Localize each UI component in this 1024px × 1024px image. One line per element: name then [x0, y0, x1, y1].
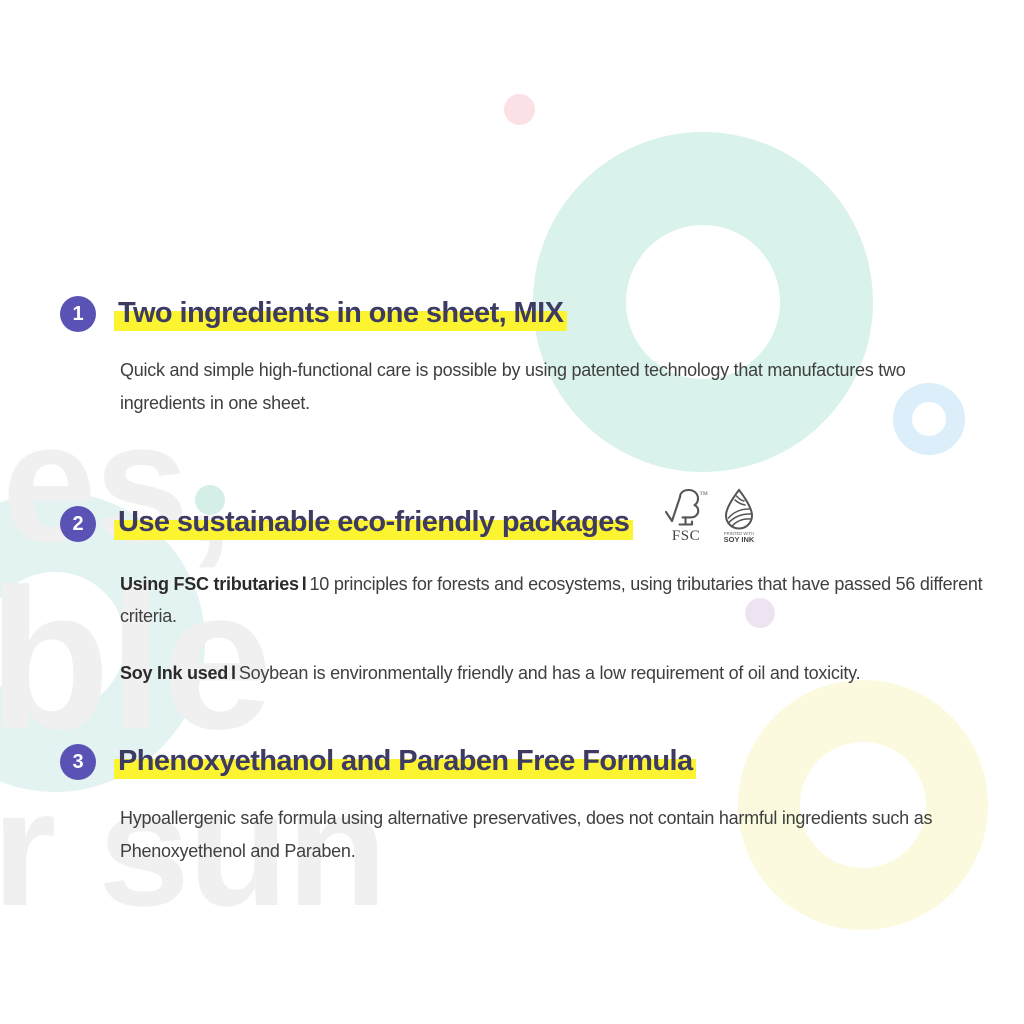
soy-ink-logo: PRINTED WITH SOY INK: [719, 488, 759, 549]
fsc-label: FSC: [672, 528, 700, 544]
product-feature-panel: es, ble r sun 1 Two ingredients in one s…: [0, 0, 1024, 1024]
feature-item-soyink-separator: l: [228, 663, 239, 683]
feature-item-soyink-key: Soy Ink used: [120, 663, 228, 683]
feature-heading-2: Use sustainable eco-friendly packages: [114, 506, 633, 541]
feature-list: 1 Two ingredients in one sheet, MIX Quic…: [0, 0, 1024, 1024]
feature-item-fsc-key: Using FSC tributaries: [120, 574, 299, 594]
feature-section-1: 1 Two ingredients in one sheet, MIX Quic…: [60, 296, 984, 421]
feature-item-fsc-separator: l: [299, 574, 310, 594]
feature-heading-1: Two ingredients in one sheet, MIX: [114, 297, 567, 332]
feature-item-soyink-value: Soybean is environmentally friendly and …: [239, 663, 861, 683]
feature-item-soyink: Soy Ink usedlSoybean is environmentally …: [120, 658, 984, 690]
fsc-trademark: TM: [700, 491, 708, 497]
feature-item-fsc: Using FSC tributariesl10 principles for …: [120, 569, 984, 632]
feature-heading-row-2: 2 Use sustainable eco-friendly packages: [60, 498, 984, 549]
fsc-logo: TM FSC: [663, 488, 709, 549]
feature-body-1: Quick and simple high-functional care is…: [120, 354, 984, 421]
feature-body-3: Hypoallergenic safe formula using altern…: [120, 802, 984, 869]
feature-number-badge-1: 1: [60, 296, 96, 332]
feature-section-2: 2 Use sustainable eco-friendly packages: [60, 498, 984, 690]
feature-number-badge-2: 2: [60, 506, 96, 542]
feature-heading-row-1: 1 Two ingredients in one sheet, MIX: [60, 296, 984, 332]
feature-heading-3: Phenoxyethanol and Paraben Free Formula: [114, 745, 696, 780]
feature-heading-row-3: 3 Phenoxyethanol and Paraben Free Formul…: [60, 744, 984, 780]
soy-ink-label-bottom: SOY INK: [724, 535, 755, 544]
certification-logos: TM FSC: [663, 488, 759, 549]
feature-number-badge-3: 3: [60, 744, 96, 780]
feature-section-3: 3 Phenoxyethanol and Paraben Free Formul…: [60, 744, 984, 869]
